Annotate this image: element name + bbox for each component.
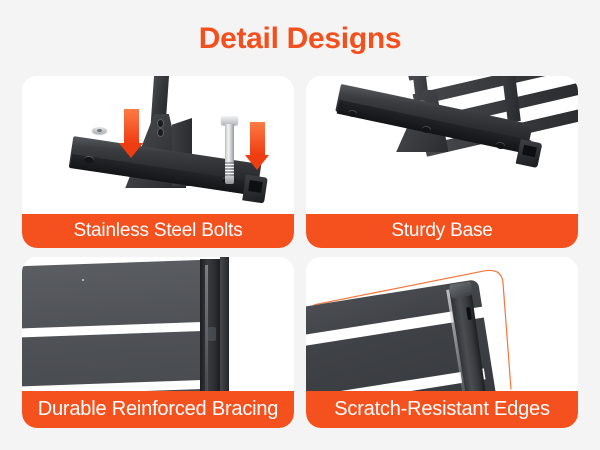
product-photo-stainless-steel-bolts [22,76,294,214]
card-label: Sturdy Base [391,220,492,242]
washer-graphic [92,127,107,134]
card-label: Durable Reinforced Bracing [38,398,278,421]
card-label: Scratch-Resistant Edges [334,398,550,421]
feature-card-sturdy-base[interactable]: Sturdy Base [306,76,578,248]
stainless-bolt-graphic [224,116,235,184]
gusset-hole-lower [158,129,163,136]
down-arrow-icon [250,122,265,170]
feature-card-stainless-steel-bolts[interactable]: Stainless Steel Bolts [22,76,294,248]
base-rail-end-cavity [248,180,262,193]
product-photo-sturdy-base [306,76,578,214]
card-label: Stainless Steel Bolts [74,220,243,242]
brace-detail [208,327,216,341]
feature-card-durable-reinforced-bracing[interactable]: Durable Reinforced Bracing [22,257,294,429]
page-title: Detail Designs [0,22,600,56]
gusset-hole-upper [158,120,163,127]
bolt-tip [225,176,234,184]
card-banner: Sturdy Base [306,214,578,248]
card-banner: Scratch-Resistant Edges [306,391,578,428]
down-arrow-icon [124,109,139,158]
feature-card-grid: Stainless Steel Bolts [22,76,578,428]
product-photo-scratch-resistant-edges [306,257,578,392]
card-banner: Stainless Steel Bolts [22,214,294,248]
reinforced-upright-brace [200,259,222,392]
upright-edge [220,257,229,392]
feature-card-scratch-resistant-edges[interactable]: Scratch-Resistant Edges [306,257,578,429]
product-photo-durable-reinforced-bracing [22,257,294,392]
card-banner: Durable Reinforced Bracing [22,391,294,428]
edge-corner-cap [449,281,473,298]
detail-designs-page: Detail Designs [0,0,600,450]
surface-speck [82,279,84,281]
